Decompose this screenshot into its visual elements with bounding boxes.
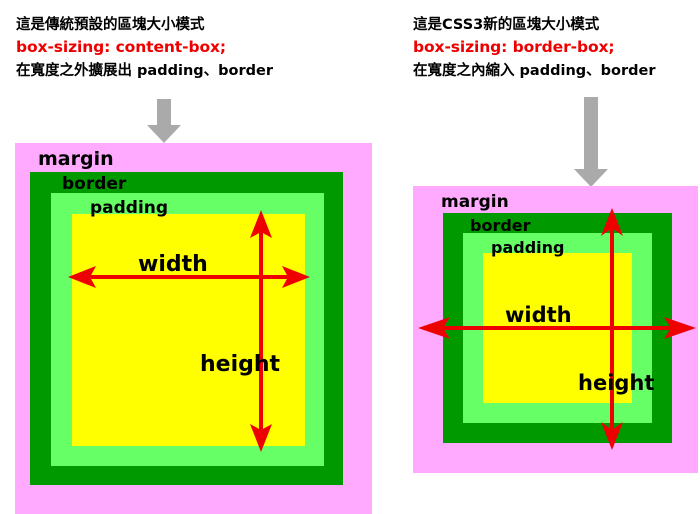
right-border-label: border bbox=[470, 216, 531, 235]
gray-down-arrow-left bbox=[143, 99, 185, 143]
right-height-label: height bbox=[578, 371, 654, 395]
left-caption-line-3: 在寬度之外擴展出 padding、border bbox=[16, 60, 273, 82]
right-caption-line-1: 這是CSS3新的區塊大小模式 bbox=[413, 14, 656, 36]
left-caption-code: box-sizing: content-box; bbox=[16, 36, 273, 60]
left-caption-block: 這是傳統預設的區塊大小模式 box-sizing: content-box; 在… bbox=[16, 14, 273, 82]
left-border-label: border bbox=[62, 174, 126, 194]
right-height-arrow bbox=[601, 208, 623, 450]
left-margin-label: margin bbox=[38, 148, 114, 170]
diagram-canvas: 這是傳統預設的區塊大小模式 box-sizing: content-box; 在… bbox=[0, 0, 700, 514]
right-caption-code: box-sizing: border-box; bbox=[413, 36, 656, 60]
left-height-label: height bbox=[200, 352, 280, 377]
right-width-label: width bbox=[505, 303, 572, 327]
right-padding-label: padding bbox=[491, 238, 564, 257]
left-padding-label: padding bbox=[90, 198, 168, 218]
left-height-arrow bbox=[250, 210, 272, 452]
left-width-label: width bbox=[138, 252, 208, 277]
right-caption-line-3: 在寬度之內縮入 padding、border bbox=[413, 60, 656, 82]
left-caption-line-1: 這是傳統預設的區塊大小模式 bbox=[16, 14, 273, 36]
right-caption-block: 這是CSS3新的區塊大小模式 box-sizing: border-box; 在… bbox=[413, 14, 656, 82]
right-margin-label: margin bbox=[441, 192, 509, 212]
gray-down-arrow-right bbox=[570, 97, 612, 187]
